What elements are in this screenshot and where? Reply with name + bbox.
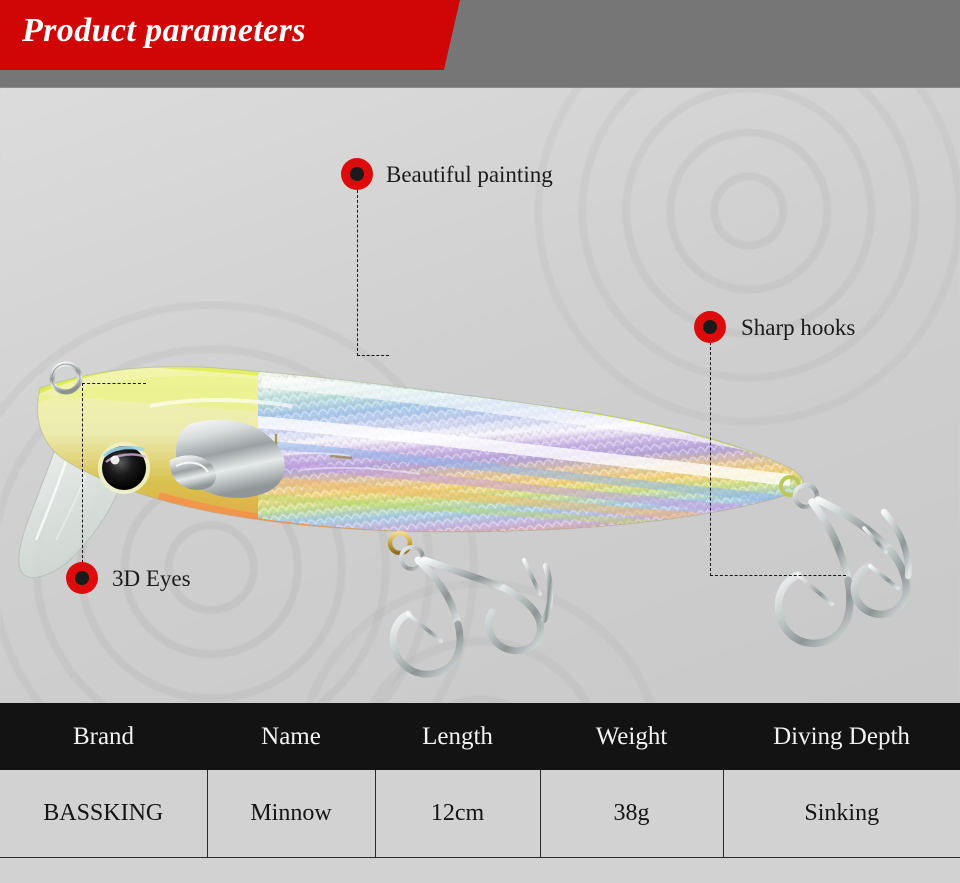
leader-line-vertical-eyes: [82, 383, 83, 563]
product-parameters-page: Product parameters: [0, 0, 960, 883]
cell-weight: 38g: [540, 770, 723, 857]
cell-diving-depth: Sinking: [723, 770, 960, 857]
column-header-brand: Brand: [0, 703, 207, 770]
tail-treble-hook: [778, 477, 908, 643]
callout-label-3d-eyes: 3D Eyes: [112, 567, 191, 590]
cell-brand: BASSKING: [0, 770, 207, 857]
lure-body: [30, 358, 822, 548]
callout-label-sharp-hooks: Sharp hooks: [741, 316, 855, 339]
column-header-length: Length: [375, 703, 540, 770]
leader-line-vertical-painting: [357, 190, 358, 356]
cell-length: 12cm: [375, 770, 540, 857]
cell-name: Minnow: [207, 770, 375, 857]
column-header-name: Name: [207, 703, 375, 770]
leader-line-horizontal-hooks: [710, 575, 846, 576]
specification-table: Brand Name Length Weight Diving Depth BA…: [0, 703, 960, 858]
callout-marker-3d-eyes[interactable]: [66, 562, 98, 594]
column-header-weight: Weight: [540, 703, 723, 770]
column-header-diving-depth: Diving Depth: [723, 703, 960, 770]
callout-marker-beautiful-painting[interactable]: [341, 158, 373, 190]
leader-line-horizontal-eyes: [82, 383, 146, 384]
belly-treble-hook: [390, 533, 550, 674]
callout-label-beautiful-painting: Beautiful painting: [386, 163, 553, 186]
table-row: BASSKING Minnow 12cm 38g Sinking: [0, 770, 960, 857]
header-bar: Product parameters: [0, 0, 960, 88]
callout-marker-sharp-hooks[interactable]: [694, 311, 726, 343]
leader-line-vertical-hooks: [710, 342, 711, 576]
page-title: Product parameters: [22, 12, 306, 50]
table-header-row: Brand Name Length Weight Diving Depth: [0, 703, 960, 770]
leader-line-horizontal-painting: [357, 355, 389, 356]
